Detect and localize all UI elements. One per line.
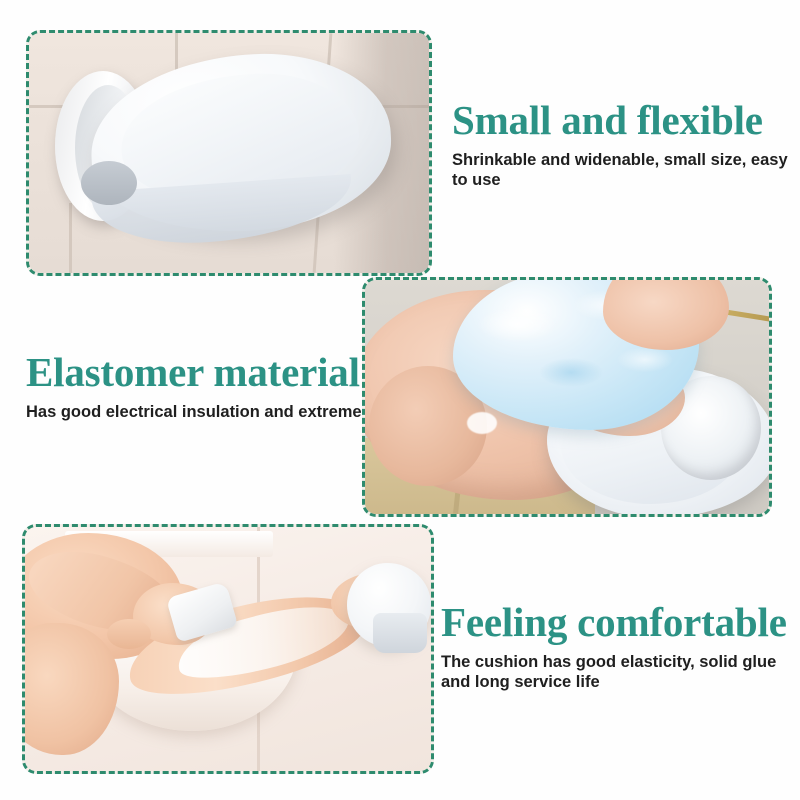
product-infographic: Small and flexible Shrinkable and widena… (0, 0, 800, 800)
tile-grout-line-vertical-c (69, 203, 72, 273)
feature-photo-small-and-flexible (26, 30, 432, 276)
foot-rest-suction-cup (373, 613, 427, 653)
feature-text-small-and-flexible: Small and flexible Shrinkable and widena… (452, 100, 800, 190)
feature-description: Shrinkable and widenable, small size, ea… (452, 150, 800, 190)
photo-scene-wall-mounted-rest (29, 33, 429, 273)
feature-headline: Feeling comfortable (441, 602, 800, 643)
feature-headline: Small and flexible (452, 100, 800, 141)
soap-suds-drop (467, 412, 497, 434)
feature-photo-elastomer-material (362, 277, 772, 517)
feature-photo-feeling-comfortable (22, 524, 434, 774)
feature-text-feeling-comfortable: Feeling comfortable The cushion has good… (441, 602, 800, 692)
fingers (107, 619, 151, 649)
photo-scene-shaving-leg (25, 527, 431, 771)
feature-description: The cushion has good elasticity, solid g… (441, 652, 800, 692)
foot-rest-under-notch (81, 161, 137, 205)
photo-scene-foot-with-loofah (365, 280, 769, 514)
